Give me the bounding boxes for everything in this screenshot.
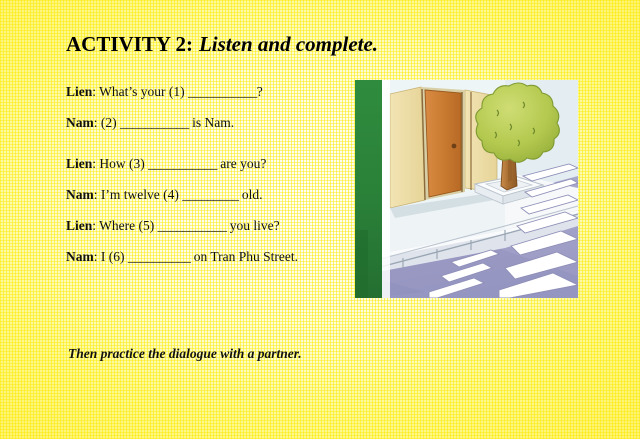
line-text-after: are you?: [217, 156, 266, 171]
line-text-before: I’m twelve (4): [101, 187, 182, 202]
line-text-after: you live?: [226, 218, 279, 233]
dialogue-block: Lien: What’s your (1) ___________? Nam: …: [66, 84, 346, 280]
answer-blank[interactable]: ___________: [148, 156, 217, 171]
line-text-before: What’s your (1): [99, 84, 188, 99]
speaker-name: Lien: [66, 218, 92, 233]
line-text-after: ?: [257, 84, 263, 99]
line-text-before: How (3): [99, 156, 148, 171]
dialogue-line: Nam: I (6) __________ on Tran Phu Street…: [66, 249, 346, 265]
line-text-before: (2): [101, 115, 120, 130]
speaker-name: Nam: [66, 115, 94, 130]
line-text-after: is Nam.: [189, 115, 234, 130]
answer-blank[interactable]: ___________: [158, 218, 227, 233]
dialogue-line: Lien: How (3) ___________ are you?: [66, 156, 346, 172]
answer-blank[interactable]: ___________: [120, 115, 189, 130]
line-text-after: on Tran Phu Street.: [190, 249, 298, 264]
page-title: ACTIVITY 2:Listen and complete.: [66, 32, 378, 57]
answer-blank[interactable]: __________: [128, 249, 191, 264]
line-text-after: old.: [238, 187, 262, 202]
dialogue-line: Lien: Where (5) ___________ you live?: [66, 218, 346, 234]
speaker-name: Lien: [66, 84, 92, 99]
line-text-before: I (6): [101, 249, 128, 264]
speaker-separator: :: [94, 115, 101, 130]
slide-canvas: ACTIVITY 2:Listen and complete. Lien: Wh…: [0, 0, 640, 439]
dialogue-line: Lien: What’s your (1) ___________?: [66, 84, 346, 100]
line-text-before: Where (5): [99, 218, 157, 233]
answer-blank[interactable]: _________: [182, 187, 238, 202]
speaker-name: Nam: [66, 249, 94, 264]
activity-subtitle: Listen and complete.: [199, 32, 378, 56]
answer-blank[interactable]: ___________: [188, 84, 257, 99]
speaker-name: Lien: [66, 156, 92, 171]
speaker-name: Nam: [66, 187, 94, 202]
speaker-separator: :: [94, 187, 101, 202]
street-scene-illustration: [355, 80, 578, 298]
dialogue-line: Nam: (2) ___________ is Nam.: [66, 115, 346, 131]
closing-instruction: Then practice the dialogue with a partne…: [68, 346, 302, 362]
dialogue-line: Nam: I’m twelve (4) _________ old.: [66, 187, 346, 203]
activity-label: ACTIVITY 2:: [66, 32, 193, 56]
speaker-separator: :: [94, 249, 101, 264]
